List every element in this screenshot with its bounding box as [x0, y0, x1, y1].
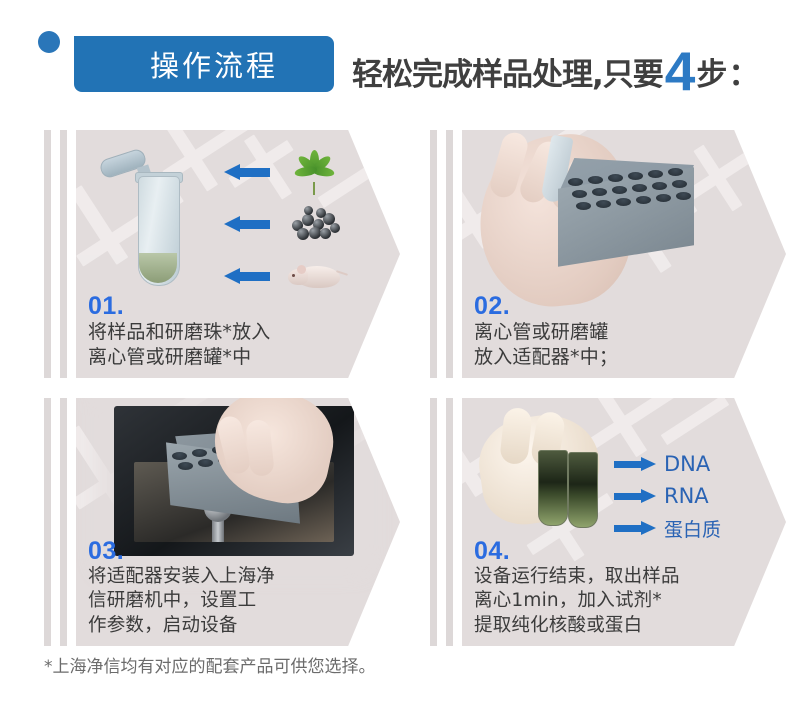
- arrow-right-icon: [614, 489, 656, 503]
- arrow-left-icon: [224, 268, 270, 284]
- mouse-ear: [297, 265, 306, 274]
- mouse-eye: [292, 274, 295, 277]
- card-accent-bar: [446, 130, 453, 378]
- step-description: 离心管或研磨罐 放入适配器*中；: [474, 320, 774, 370]
- adapter-holes: [566, 164, 690, 200]
- step-card-body: 03. 将适配器安装入上海净 信研磨机中，设置工 作参数，启动设备: [76, 398, 400, 646]
- card-accent-bar: [60, 130, 67, 378]
- step-description: 设备运行结束，取出样品 离心1min，加入试剂* 提取纯化核酸或蛋白: [474, 565, 774, 638]
- step-card-body: DNA RNA 蛋白质 04. 设备运行结束，取出样品 离心1min，加入试剂*…: [462, 398, 786, 646]
- step-number: 03.: [88, 538, 388, 564]
- step-caption: 03. 将适配器安装入上海净 信研磨机中，设置工 作参数，启动设备: [88, 538, 388, 638]
- arrow-right-icon: [614, 457, 656, 471]
- arrow-right-icon: [614, 521, 656, 535]
- headline: 轻松完成样品处理,只要 4 步 ：: [352, 44, 759, 94]
- step-card-03: 03. 将适配器安装入上海净 信研磨机中，设置工 作参数，启动设备: [36, 388, 426, 656]
- step-card-02: 02. 离心管或研磨罐 放入适配器*中；: [422, 120, 810, 388]
- step-card-body: 02. 离心管或研磨罐 放入适配器*中；: [462, 130, 786, 378]
- legend-row: RNA: [614, 480, 774, 512]
- source-row-leaf: [224, 152, 400, 194]
- header: 操作流程 轻松完成样品处理,只要 4 步 ：: [0, 0, 810, 112]
- arrow-left-icon: [224, 216, 270, 232]
- sample-vial: [568, 452, 598, 528]
- legend-label-rna: RNA: [664, 484, 709, 508]
- headline-after: 步: [696, 49, 726, 94]
- step-card-01: 01. 将样品和研磨珠*放入 离心管或研磨罐*中: [36, 120, 426, 388]
- section-banner-text-wrap: 操作流程: [74, 36, 334, 92]
- banner-dot-icon: [38, 31, 60, 53]
- section-title: 操作流程: [150, 43, 278, 85]
- step-number: 02.: [474, 293, 774, 319]
- centrifuge-tube-icon: [98, 148, 208, 298]
- headline-step-count: 4: [665, 49, 696, 93]
- steps-grid: 01. 将样品和研磨珠*放入 离心管或研磨罐*中: [0, 112, 810, 652]
- step-caption: 04. 设备运行结束，取出样品 离心1min，加入试剂* 提取纯化核酸或蛋白: [474, 538, 774, 638]
- step-description: 将适配器安装入上海净 信研磨机中，设置工 作参数，启动设备: [88, 565, 388, 638]
- arrow-left-icon: [224, 164, 270, 180]
- sample-vial: [538, 450, 568, 526]
- card-accent-bar: [44, 398, 51, 646]
- card-accent-bar: [60, 398, 67, 646]
- legend-label-dna: DNA: [664, 452, 710, 476]
- page-root: 操作流程 轻松完成样品处理,只要 4 步 ：: [0, 0, 810, 709]
- card-accent-bar: [430, 130, 437, 378]
- output-legend: DNA RNA 蛋白质: [614, 448, 774, 544]
- step-caption: 01. 将样品和研磨珠*放入 离心管或研磨罐*中: [88, 293, 388, 370]
- leaf-stem: [313, 182, 315, 195]
- leaf-icon: [290, 150, 338, 196]
- step-card-04: DNA RNA 蛋白质 04. 设备运行结束，取出样品 离心1min，加入试剂*…: [422, 388, 810, 656]
- legend-row: DNA: [614, 448, 774, 480]
- headline-before: 轻松完成样品处理,只要: [352, 49, 663, 94]
- step-description: 将样品和研磨珠*放入 离心管或研磨罐*中: [88, 320, 388, 370]
- card-accent-bar: [44, 130, 51, 378]
- step-caption: 02. 离心管或研磨罐 放入适配器*中；: [474, 293, 774, 370]
- card-accent-bar: [446, 398, 453, 646]
- headline-colon: ：: [728, 49, 759, 94]
- source-row-beads: [224, 204, 400, 246]
- card-accent-bar: [430, 398, 437, 646]
- footer-note: *上海净信均有对应的配套产品可供您选择。: [44, 652, 644, 677]
- step-number: 04.: [474, 538, 774, 564]
- step-number: 01.: [88, 293, 388, 319]
- mouse-icon: [288, 254, 346, 296]
- step-card-body: 01. 将样品和研磨珠*放入 离心管或研磨罐*中: [76, 130, 400, 378]
- grinding-beads-icon: [290, 206, 342, 242]
